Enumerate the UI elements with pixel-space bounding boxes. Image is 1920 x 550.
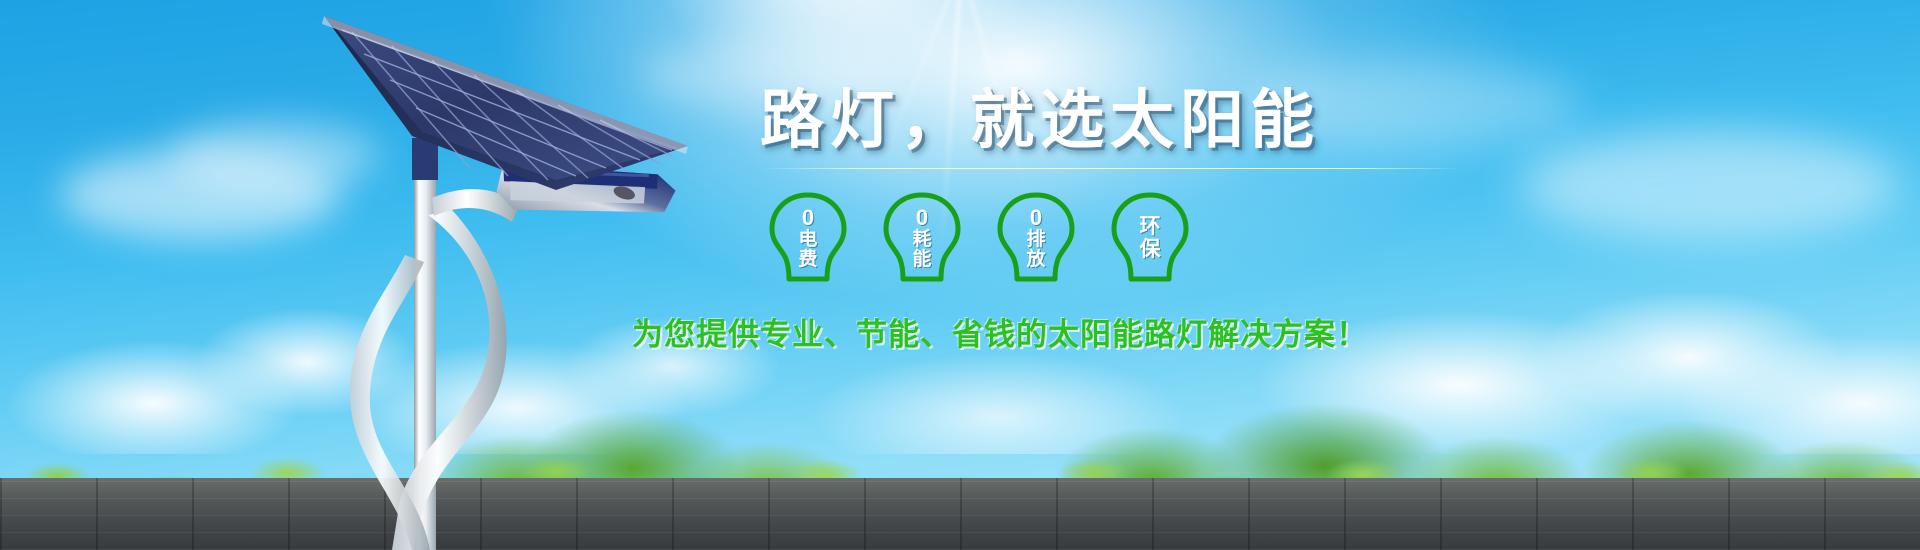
- divider: [760, 168, 1460, 169]
- badge-value: 0: [802, 207, 814, 229]
- feature-badge-list: 0 电 费 0 耗 能 0: [766, 191, 1460, 283]
- banner-tagline: 为您提供专业、节能、省钱的太阳能路灯解决方案！: [632, 309, 1460, 354]
- feature-badge: 0 排 放: [994, 191, 1078, 283]
- banner-text-block: 路灯，就选太阳能 0 电 费 0 耗 能: [760, 88, 1460, 354]
- badge-text: 环 保: [1108, 191, 1192, 283]
- badge-value: 0: [916, 207, 928, 229]
- cloud: [170, 120, 380, 190]
- page-title: 路灯，就选太阳能: [760, 88, 1460, 152]
- feature-badge: 0 电 费: [766, 191, 850, 283]
- badge-label-line1: 电: [798, 230, 817, 249]
- badge-label-line1: 环: [1140, 216, 1161, 237]
- feature-badge: 环 保: [1108, 191, 1192, 283]
- badge-value: 0: [1030, 207, 1042, 229]
- badge-label-line2: 保: [1140, 239, 1161, 260]
- feature-badge: 0 耗 能: [880, 191, 964, 283]
- badge-label-line2: 能: [912, 250, 931, 269]
- badge-text: 0 电 费: [766, 191, 850, 283]
- badge-label-line2: 费: [798, 250, 817, 269]
- badge-label-line2: 放: [1026, 250, 1045, 269]
- solar-street-light-banner: 路灯，就选太阳能 0 电 费 0 耗 能: [0, 0, 1920, 550]
- ground-scene: [0, 380, 1920, 550]
- badge-text: 0 排 放: [994, 191, 1078, 283]
- badge-text: 0 耗 能: [880, 191, 964, 283]
- badge-label-line1: 排: [1026, 230, 1045, 249]
- badge-label-line1: 耗: [912, 230, 931, 249]
- brick-wall: [0, 478, 1920, 550]
